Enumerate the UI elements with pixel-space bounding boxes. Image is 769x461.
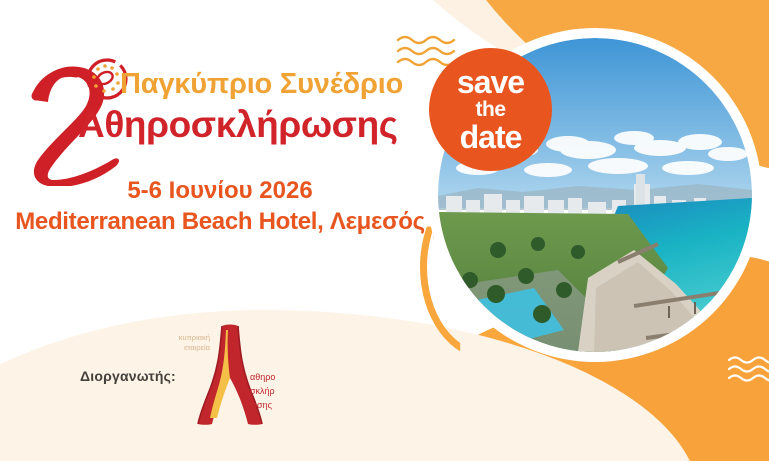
- logo-text-right-1: αθηρο: [250, 372, 275, 382]
- logo-text-right-2: σκλήρ: [250, 386, 275, 396]
- headline-line-1: Παγκύπριο Συνέδριο: [120, 68, 403, 101]
- save-the-date-badge: save the date: [429, 48, 552, 171]
- event-details: 5-6 Ιουνίου 2026 Mediterranean Beach Hot…: [0, 176, 440, 238]
- headline-group: Παγκύπριο Συνέδριο Αθηροσκλήρωσης: [22, 52, 442, 162]
- badge-line-save: save: [457, 66, 524, 98]
- badge-line-the: the: [476, 99, 506, 120]
- cyprus-atherosclerosis-society-logo: κυπριακή εταιρεία αθηρο σκλήρ ωσης: [178, 322, 290, 430]
- event-venue: Mediterranean Beach Hotel, Λεμεσός: [0, 206, 440, 238]
- logo-text-top-2: εταιρεία: [184, 343, 210, 352]
- logo-text-top-1: κυπριακή: [179, 333, 210, 342]
- logo-text-right-3: ωσης: [250, 400, 273, 410]
- headline-line-2: Αθηροσκλήρωσης: [78, 104, 398, 146]
- organiser-label: Διοργανωτής:: [80, 368, 176, 384]
- event-date: 5-6 Ιουνίου 2026: [0, 176, 440, 206]
- save-the-date-poster: Παγκύπριο Συνέδριο Αθηροσκλήρωσης 5-6 Ιο…: [0, 0, 769, 461]
- wave-lines-bottom-icon: [727, 354, 769, 384]
- badge-line-date: date: [460, 121, 522, 153]
